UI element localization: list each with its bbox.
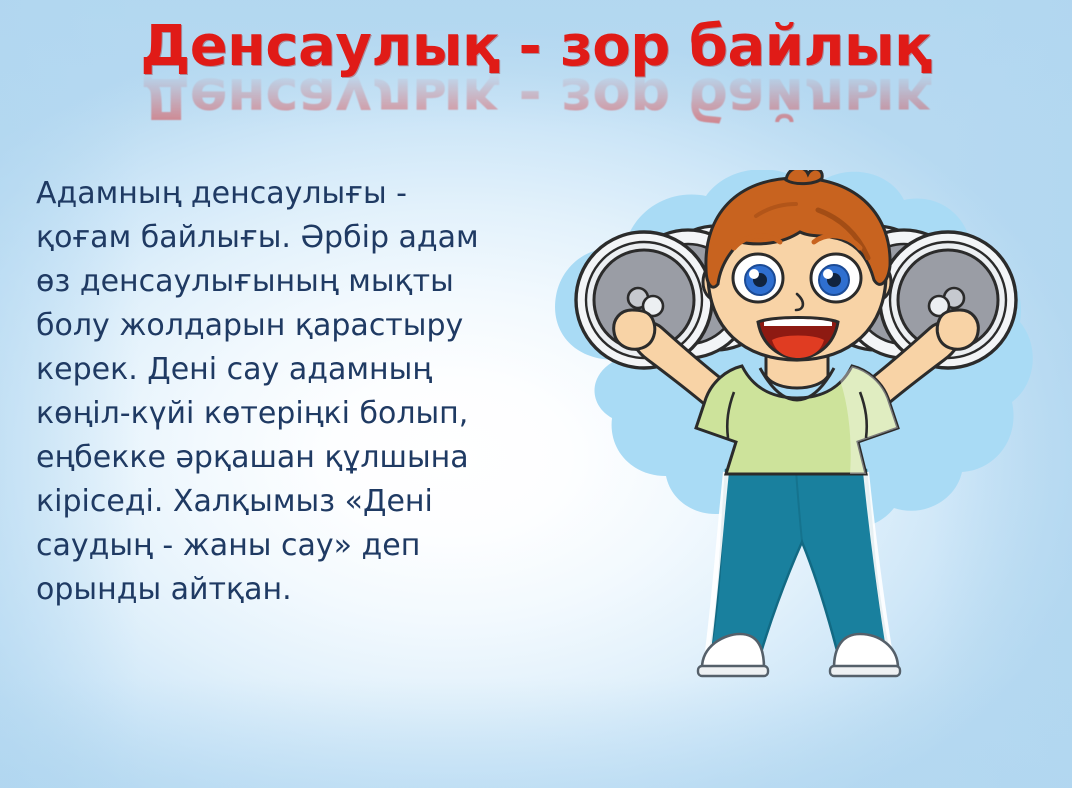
body-line: өз денсаулығының мықты <box>36 260 536 304</box>
eye-left <box>733 254 783 302</box>
page-title: Денсаулық - зор байлық <box>0 18 1072 75</box>
slide-canvas: Денсаулық - зор байлық Денсаулық - зор б… <box>0 0 1072 788</box>
body-line: орынды айтқан. <box>36 568 536 612</box>
body-line: көңіл-күйі көтеріңкі болып, <box>36 392 536 436</box>
head <box>703 170 891 360</box>
body-line: еңбекке әрқашан құлшына <box>36 436 536 480</box>
body-line: саудың - жаны сау» деп <box>36 524 536 568</box>
body-line: кіріседі. Халқымыз «Дені <box>36 480 536 524</box>
title-block: Денсаулық - зор байлық Денсаулық - зор б… <box>0 18 1072 126</box>
body-line: Адамның денсаулығы - <box>36 172 536 216</box>
body-line: керек. Дені сау адамның <box>36 348 536 392</box>
eye-right <box>811 254 861 302</box>
body-paragraph: Адамның денсаулығы - қоғам байлығы. Әрбі… <box>36 172 536 612</box>
boy-lifting-dumbbells-illustration <box>520 170 1072 730</box>
page-title-reflection: Денсаулық - зор байлық <box>0 69 1072 126</box>
body-line: болу жолдарын қарастыру <box>36 304 536 348</box>
body-line: қоғам байлығы. Әрбір адам <box>36 216 536 260</box>
